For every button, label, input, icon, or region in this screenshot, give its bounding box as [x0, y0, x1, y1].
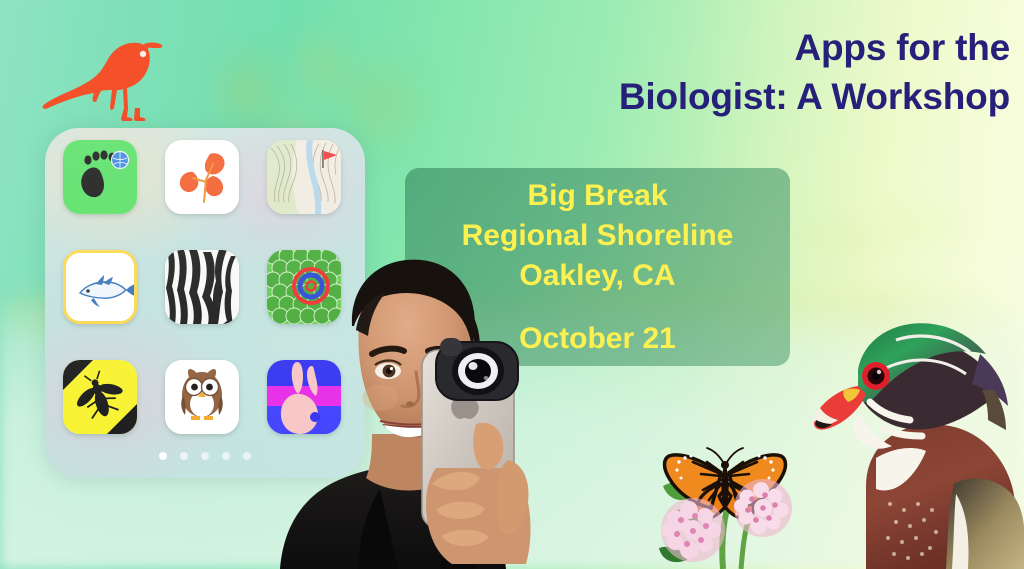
page-title: Apps for the Biologist: A Workshop: [430, 24, 1010, 122]
page-dot-1[interactable]: [159, 452, 167, 460]
app-icon-fish-guide[interactable]: [63, 250, 137, 324]
red-bird-silhouette-icon: [36, 34, 166, 122]
page-dot-3[interactable]: [201, 452, 209, 460]
app-icon-topo-map[interactable]: [267, 140, 341, 214]
monarch-butterfly-on-milkweed: [645, 432, 825, 569]
page-dot-2[interactable]: [180, 452, 188, 460]
app-icon-inaturalist[interactable]: [63, 140, 137, 214]
app-icon-zebra-stripes[interactable]: [165, 250, 239, 324]
workshop-poster: Apps for the Biologist: A Workshop Big B…: [0, 0, 1024, 569]
app-icon-owl-bird[interactable]: [165, 360, 239, 434]
app-icon-leaf-id[interactable]: [165, 140, 239, 214]
wood-duck-photo: [804, 298, 1024, 569]
presenter-with-phone-photo: [240, 238, 600, 569]
app-icon-insect-id[interactable]: [63, 360, 137, 434]
page-dot-4[interactable]: [222, 452, 230, 460]
